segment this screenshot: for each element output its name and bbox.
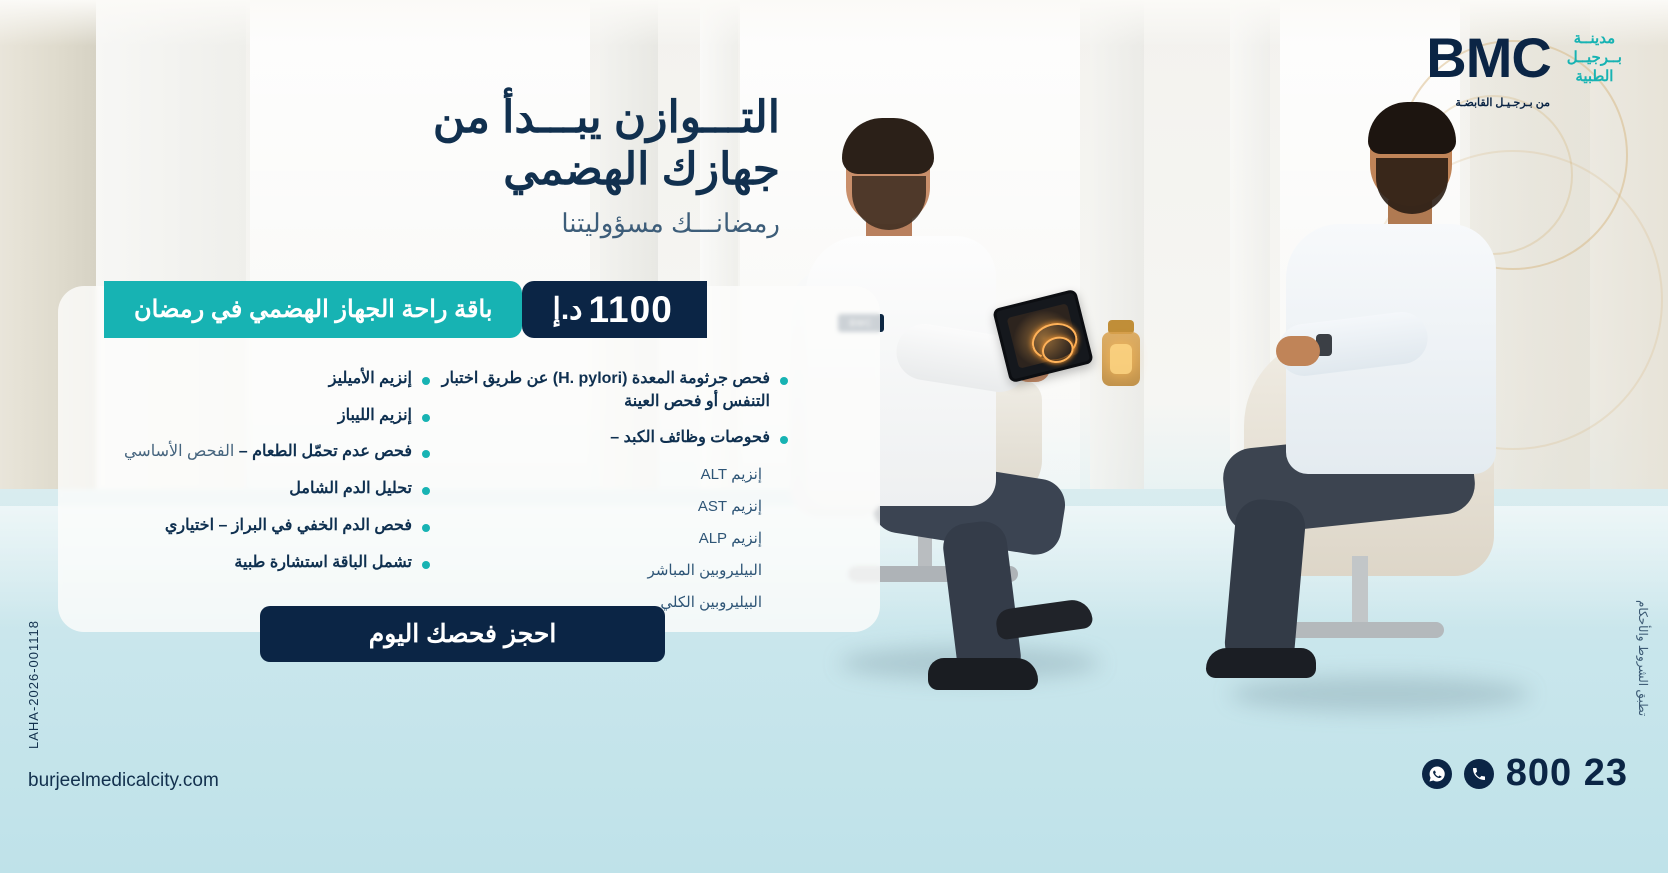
price-box: 1100 د.إ [522,281,706,338]
test-label: تحليل الدم الشامل [289,478,412,501]
advertisement-canvas: BMC مدينــة بــرجيــل الطبية BMC [0,0,1668,873]
logo-arabic-text: مدينــة بــرجيــل الطبية [1567,30,1622,86]
list-item: تحليل الدم الشامل [58,478,430,501]
list-item: فحص الدم الخفي في البراز – اختياري [58,515,430,538]
book-appointment-button[interactable]: احجز فحصك اليوم [260,606,665,662]
test-label: فحوصات وظائف الكبد – [610,427,770,450]
doctor-beard [852,176,926,230]
logo-arabic-line-1: مدينــة [1567,30,1622,49]
patient-hand [1276,336,1320,366]
list-item: فحص عدم تحمّل الطعام – الفحص الأساسي [58,441,430,464]
price-banner: 1100 د.إ باقة راحة الجهاز الهضمي في رمضا… [104,281,707,338]
secondary-tests-list: إنزيم الأميليز إنزيم الليباز فحص عدم تحم… [58,368,430,588]
phone-icon[interactable] [1464,759,1494,789]
list-item: إنزيم الليباز [58,405,430,428]
bullet-dot-icon [780,436,788,444]
test-label: فحص جرثومة المعدة (H. pylori) عن طريق اخ… [428,368,770,413]
headline-subtitle: رمضانـــك مسؤوليتنا [360,208,780,239]
logo-subtitle: من بـرجـيـل القابضـة [1455,96,1550,109]
lantern-glow [1110,344,1132,374]
doctor-hair [842,118,934,174]
brand-logo: مدينــة بــرجيــل الطبية BMC [1426,30,1622,86]
bullet-dot-icon [422,450,430,458]
terms-and-conditions: تطبق الشروط والأحكام [1636,600,1650,716]
patient-lower-leg [1223,497,1308,672]
liver-subitem: إنزيم AST [428,496,762,517]
test-label: إنزيم الأميليز [329,368,412,391]
doctor-shoe [928,658,1038,690]
bullet-dot-icon [422,414,430,422]
primary-tests-list: فحص جرثومة المعدة (H. pylori) عن طريق اخ… [428,368,788,624]
headline-line-1: التـــوازن يبـــدأ من [360,92,780,144]
package-label: باقة راحة الجهاز الهضمي في رمضان [104,281,522,338]
headline-line-2: جهازك الهضمي [360,144,780,196]
contact-block[interactable]: 800 23 [1422,752,1628,795]
liver-subitem: البيليروبين المباشر [428,560,762,581]
logo-arabic-line-3: الطبية [1567,68,1622,87]
list-item: تشمل الباقة استشارة طبية [58,552,430,575]
list-item: إنزيم الأميليز [58,368,430,391]
list-item: فحص جرثومة المعدة (H. pylori) عن طريق اخ… [428,368,788,413]
patient-hair [1368,102,1456,154]
patient-beard [1376,158,1448,214]
bullet-dot-icon [422,561,430,569]
test-label: تشمل الباقة استشارة طبية [234,552,412,575]
bullet-dot-icon [422,487,430,495]
ramadan-lantern-icon [1098,318,1144,400]
test-label: إنزيم الليباز [338,405,412,428]
bullet-dot-icon [422,377,430,385]
phone-number[interactable]: 800 23 [1506,752,1628,795]
list-item: فحوصات وظائف الكبد – [428,427,788,450]
digestive-system-illustration [1007,303,1080,368]
bullet-dot-icon [780,377,788,385]
test-label: فحص عدم تحمّل الطعام – الفحص الأساسي [124,441,412,464]
logo-bmc-text: BMC [1426,30,1551,86]
patient-figure [1200,108,1530,688]
patient-shoe [1206,648,1316,678]
reference-code: LAHA-2026-001118 [26,620,41,749]
ceiling-strip [0,0,1668,46]
website-link[interactable]: burjeelmedicalcity.com [28,770,219,792]
headline: التـــوازن يبـــدأ من جهازك الهضمي [360,92,780,196]
bullet-dot-icon [422,524,430,532]
price-value: 1100 [589,289,673,331]
liver-subitem: إنزيم ALT [428,464,762,485]
test-label: فحص الدم الخفي في البراز – اختياري [165,515,412,538]
whatsapp-icon[interactable] [1422,759,1452,789]
logo-arabic-line-2: بــرجيــل [1567,49,1622,68]
currency-symbol: د.إ [552,292,582,327]
liver-subitem: إنزيم ALP [428,528,762,549]
